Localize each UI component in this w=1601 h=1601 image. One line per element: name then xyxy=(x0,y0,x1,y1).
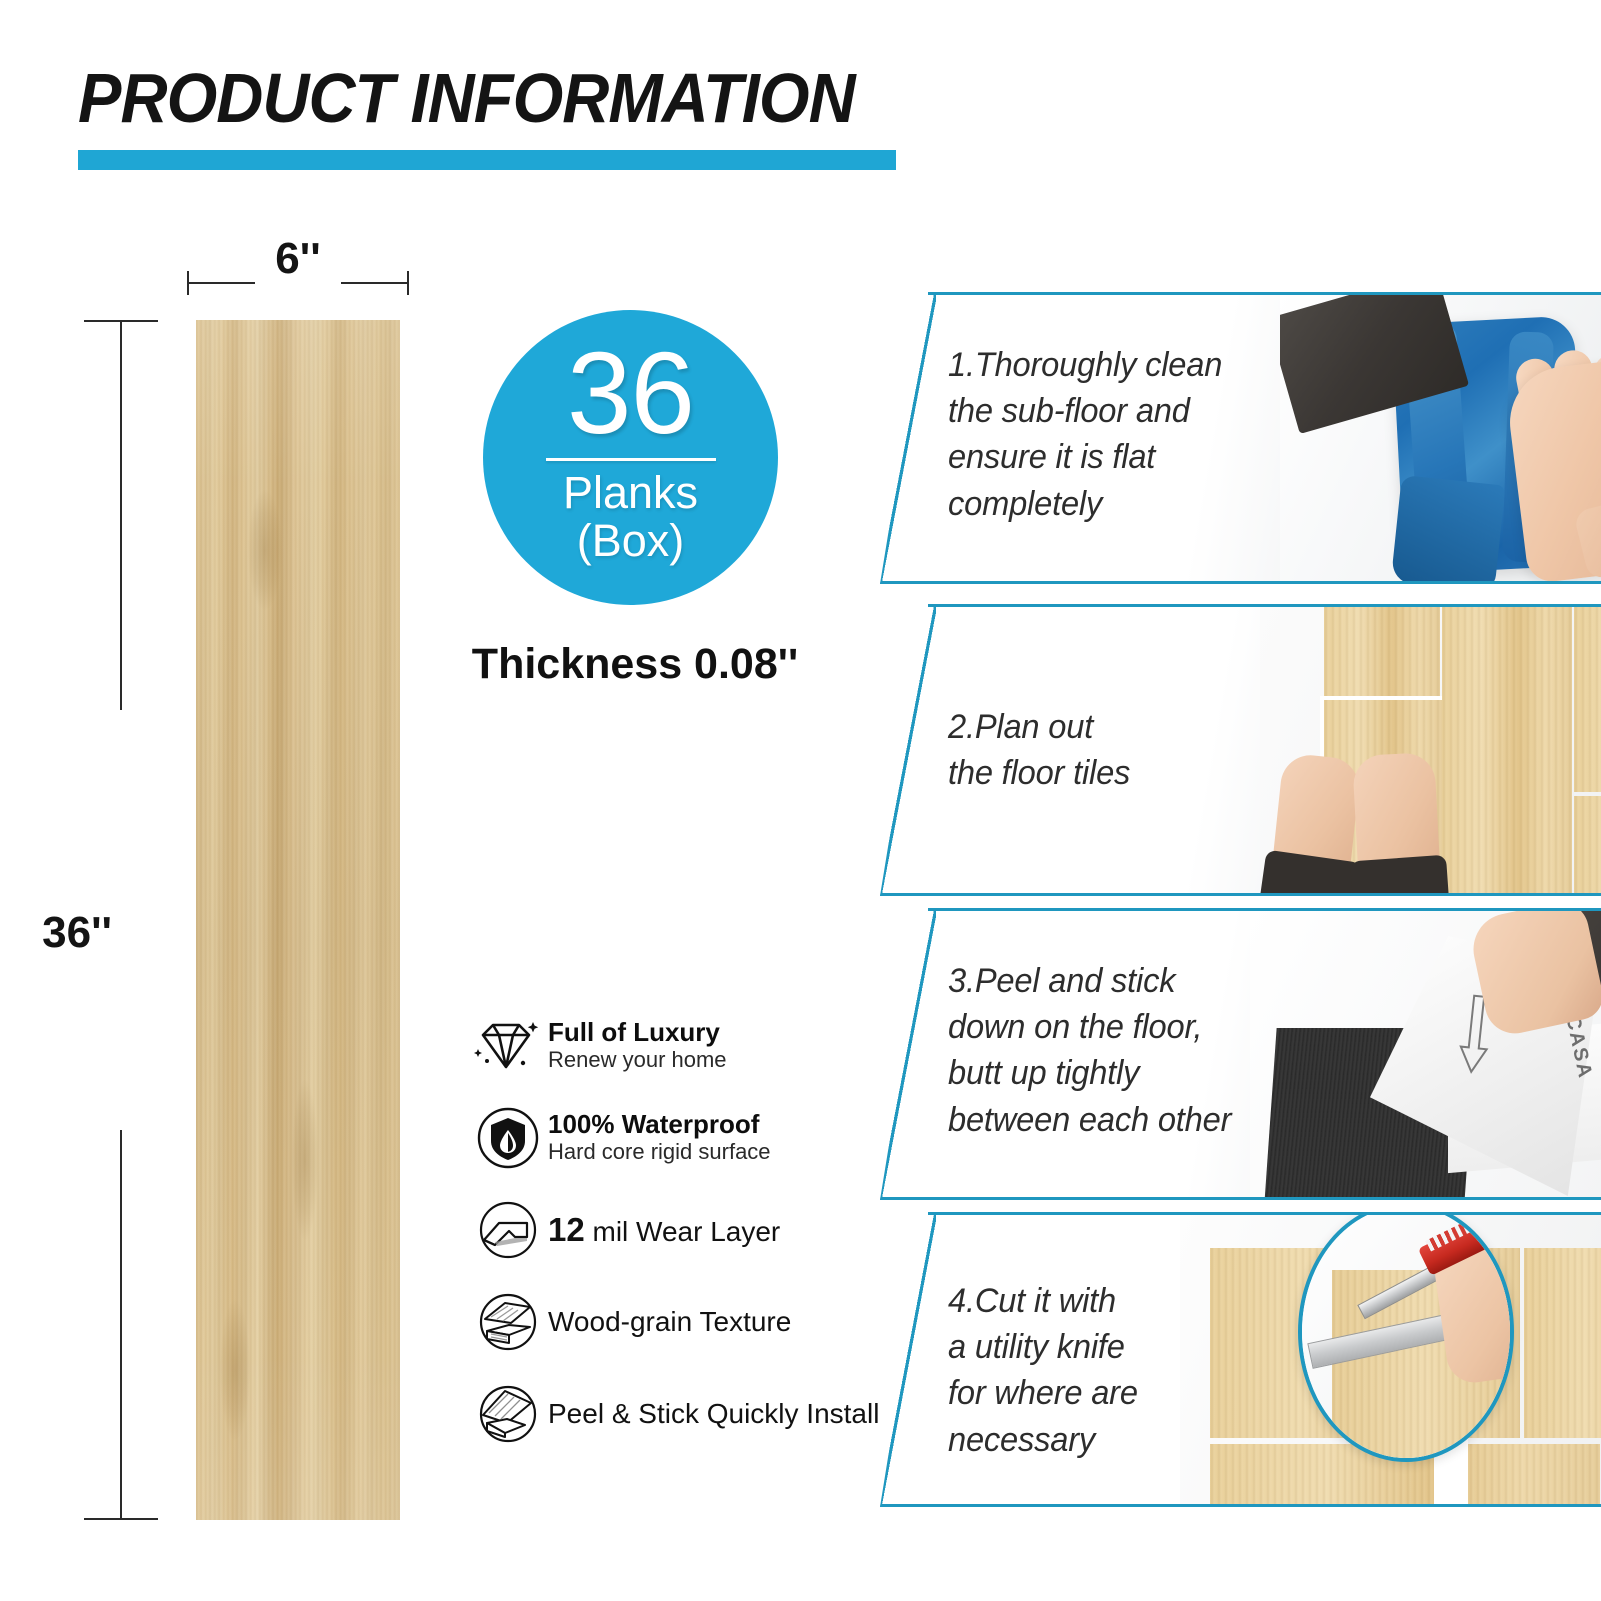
badge-divider xyxy=(546,458,716,461)
plank-swatch xyxy=(196,320,400,1520)
diamond-icon xyxy=(470,1010,546,1082)
wood-plank xyxy=(1524,1248,1601,1438)
wood-plank xyxy=(1574,796,1601,896)
feature-label: 12 mil Wear Layer xyxy=(548,1211,780,1249)
badge-sub-label: (Box) xyxy=(577,517,685,566)
feature-text: Full of Luxury Renew your home xyxy=(546,1018,727,1074)
height-dimension-line: 36'' xyxy=(120,320,122,1520)
page-title: PRODUCT INFORMATION xyxy=(78,58,855,138)
wood-knot-mark xyxy=(248,490,282,610)
feature-title: Full of Luxury xyxy=(548,1018,727,1047)
wood-plank xyxy=(1574,604,1601,792)
wear-layer-value: 12 xyxy=(548,1211,585,1248)
plank-dimension-figure: 6'' 36'' xyxy=(0,240,470,1530)
height-dimension-label: 36'' xyxy=(0,908,112,958)
step-2-text: 2.Plan out the floor tiles xyxy=(948,704,1265,796)
feature-subtitle: Hard core rigid surface xyxy=(548,1139,771,1165)
width-dimension-label: 6'' xyxy=(187,234,409,284)
feature-item-wood-grain: Wood-grain Texture xyxy=(470,1286,890,1358)
feature-text: Peel & Stick Quickly Install xyxy=(546,1398,879,1430)
badge-count: 36 xyxy=(567,340,694,447)
sleeve xyxy=(1350,855,1450,896)
shield-droplet-icon xyxy=(470,1102,546,1174)
feature-subtitle: Renew your home xyxy=(548,1047,727,1073)
step-panel-4: 4.Cut it with a utility knife for where … xyxy=(880,1212,1601,1507)
installation-steps: 1.Thoroughly clean the sub-floor and ens… xyxy=(880,292,1601,1507)
planks-per-box-badge: 36 Planks (Box) xyxy=(483,310,778,605)
wear-layer-icon xyxy=(470,1194,546,1266)
feature-item-peel-stick: Peel & Stick Quickly Install xyxy=(470,1378,890,1450)
step-1-text: 1.Thoroughly clean the sub-floor and ens… xyxy=(948,342,1265,527)
wood-knot-mark xyxy=(220,1300,250,1440)
wear-layer-unit: mil Wear Layer xyxy=(585,1216,781,1247)
step-panel-3: CASA 3.Peel and stick down on the floor,… xyxy=(880,908,1601,1200)
zoom-inset-circle xyxy=(1298,1212,1514,1462)
step-3-text: 3.Peel and stick down on the floor, butt… xyxy=(948,958,1294,1143)
product-information-infographic: PRODUCT INFORMATION 6'' 36'' 36 xyxy=(0,0,1601,1601)
peel-stick-icon xyxy=(470,1378,546,1450)
wood-plank xyxy=(1442,604,1572,896)
step-2-photo xyxy=(1260,604,1601,896)
feature-text: 12 mil Wear Layer xyxy=(546,1211,780,1249)
feature-list: Full of Luxury Renew your home 100% Wate… xyxy=(470,1010,890,1470)
feature-item-waterproof: 100% Waterproof Hard core rigid surface xyxy=(470,1102,890,1174)
feature-label: Peel & Stick Quickly Install xyxy=(548,1398,879,1430)
feature-title: 100% Waterproof xyxy=(548,1110,771,1139)
dimension-tick xyxy=(84,1518,158,1520)
feature-text: 100% Waterproof Hard core rigid surface xyxy=(546,1110,771,1166)
step-panel-1: 1.Thoroughly clean the sub-floor and ens… xyxy=(880,292,1601,584)
feature-text: Wood-grain Texture xyxy=(546,1306,791,1338)
feature-label: Wood-grain Texture xyxy=(548,1306,791,1338)
feature-item-luxury: Full of Luxury Renew your home xyxy=(470,1010,890,1082)
badge-unit-label: Planks xyxy=(563,469,698,516)
step-4-text: 4.Cut it with a utility knife for where … xyxy=(948,1278,1265,1463)
step-3-photo: CASA xyxy=(1250,908,1601,1200)
cloth-fold xyxy=(1391,475,1506,584)
wood-grain-icon xyxy=(470,1286,546,1358)
step-panel-2: 2.Plan out the floor tiles xyxy=(880,604,1601,896)
thickness-label: Thickness 0.08'' xyxy=(440,640,830,689)
feature-item-wear-layer: 12 mil Wear Layer xyxy=(470,1194,890,1266)
width-dimension-line: 6'' xyxy=(187,282,409,284)
dimension-bar xyxy=(120,1130,122,1520)
step-1-photo xyxy=(1280,292,1601,584)
title-underline-bar xyxy=(78,150,896,170)
wood-knot-mark xyxy=(292,1080,318,1240)
dimension-bar xyxy=(120,320,122,710)
